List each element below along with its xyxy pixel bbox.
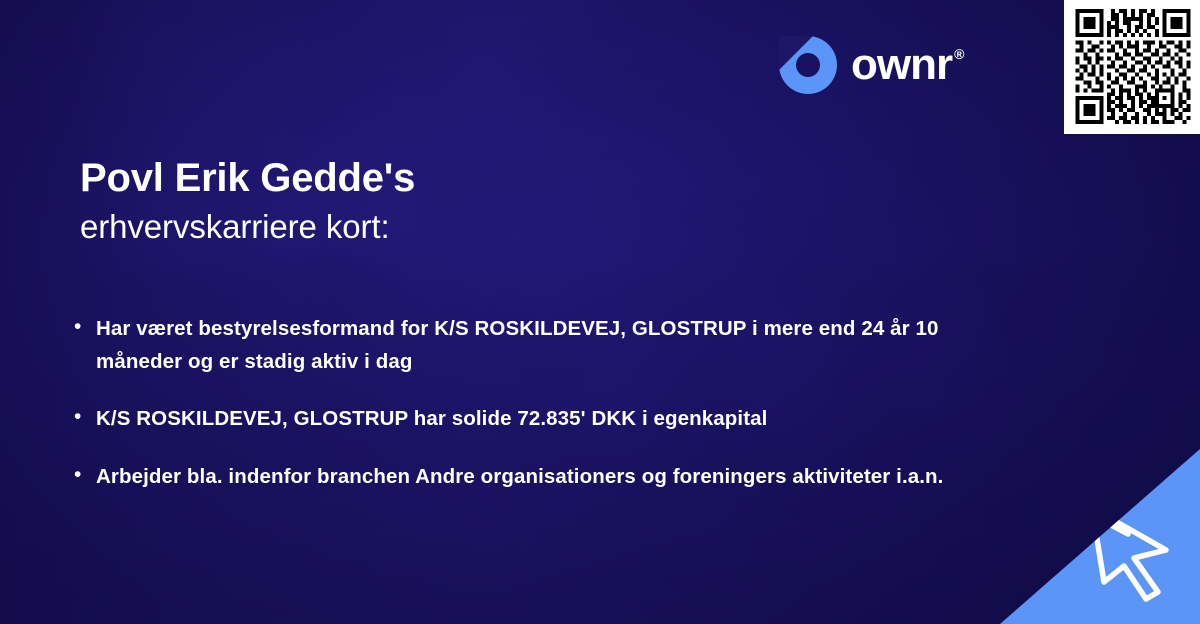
- registered-trademark-icon: ®: [954, 47, 963, 61]
- qr-code[interactable]: [1074, 9, 1192, 124]
- list-item: • K/S ROSKILDEVEJ, GLOSTRUP har solide 7…: [74, 402, 1024, 435]
- list-item-text: Har været bestyrelsesformand for K/S ROS…: [96, 312, 956, 378]
- bullet-marker-icon: •: [74, 312, 96, 342]
- bullet-marker-icon: •: [74, 460, 96, 490]
- click-cursor-icon: [1062, 478, 1186, 602]
- headline-subtitle: erhvervskarriere kort:: [80, 202, 840, 252]
- page-title: Povl Erik Gedde's erhvervskarriere kort:: [80, 155, 840, 252]
- ownr-logo[interactable]: ownr ®: [779, 36, 963, 94]
- ownr-wordmark: ownr ®: [851, 43, 963, 87]
- qr-code-panel[interactable]: [1064, 0, 1200, 134]
- ownr-circle-logo-icon: [779, 36, 837, 94]
- headline-person-name: Povl Erik Gedde's: [80, 155, 840, 202]
- corner-accent-triangle: [1000, 449, 1200, 624]
- career-highlights-list: • Har været bestyrelsesformand for K/S R…: [74, 312, 1024, 493]
- card-content: ownr ®: [0, 0, 1200, 624]
- list-item: • Har været bestyrelsesformand for K/S R…: [74, 312, 1024, 378]
- ownr-wordmark-text: ownr: [851, 43, 952, 87]
- list-item-text: Arbejder bla. indenfor branchen Andre or…: [96, 460, 943, 493]
- list-item: • Arbejder bla. indenfor branchen Andre …: [74, 460, 1024, 493]
- list-item-text: K/S ROSKILDEVEJ, GLOSTRUP har solide 72.…: [96, 402, 767, 435]
- bullet-marker-icon: •: [74, 402, 96, 432]
